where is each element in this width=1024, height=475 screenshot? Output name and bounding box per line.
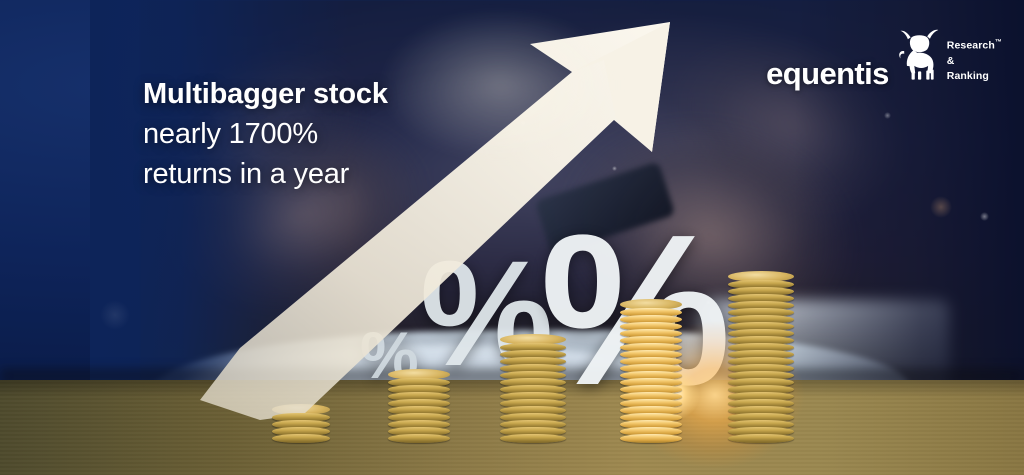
coin	[728, 434, 794, 443]
equentis-logo[interactable]: equentis R	[766, 18, 1002, 76]
coin	[388, 434, 450, 443]
logo-wordmark: equentis	[766, 58, 889, 89]
bokeh-dot	[980, 212, 989, 221]
coin-stack-1	[272, 404, 330, 443]
logo-tagline: Research™ & Ranking	[947, 38, 1002, 84]
headline-block: Multibagger stock nearly 1700% returns i…	[143, 80, 388, 194]
logo-tagline-research: Research	[947, 39, 995, 51]
coin	[500, 434, 566, 443]
headline-line-3: returns in a year	[143, 154, 388, 194]
promo-banner: % % % Multibagger stock nearly 170	[0, 0, 1024, 475]
trademark-icon: ™	[995, 39, 1002, 46]
headline-line-1: Multibagger stock	[143, 80, 388, 110]
bokeh-dot	[884, 112, 891, 119]
logo-tagline-ampersand: &	[947, 55, 955, 67]
coin-stack-5	[728, 271, 794, 443]
bokeh-dot	[612, 166, 617, 171]
headline-line-2: nearly 1700%	[143, 114, 388, 154]
coin-stack-4	[620, 299, 682, 443]
coin	[620, 434, 682, 443]
bokeh-dot	[520, 120, 526, 126]
bull-icon	[895, 24, 941, 82]
bokeh-dot	[100, 300, 130, 330]
coin-stack-3	[500, 334, 566, 443]
bokeh-dot	[930, 196, 952, 218]
coin	[272, 434, 330, 443]
logo-tagline-ranking: Ranking	[947, 70, 989, 82]
coin-stack-2	[388, 369, 450, 443]
